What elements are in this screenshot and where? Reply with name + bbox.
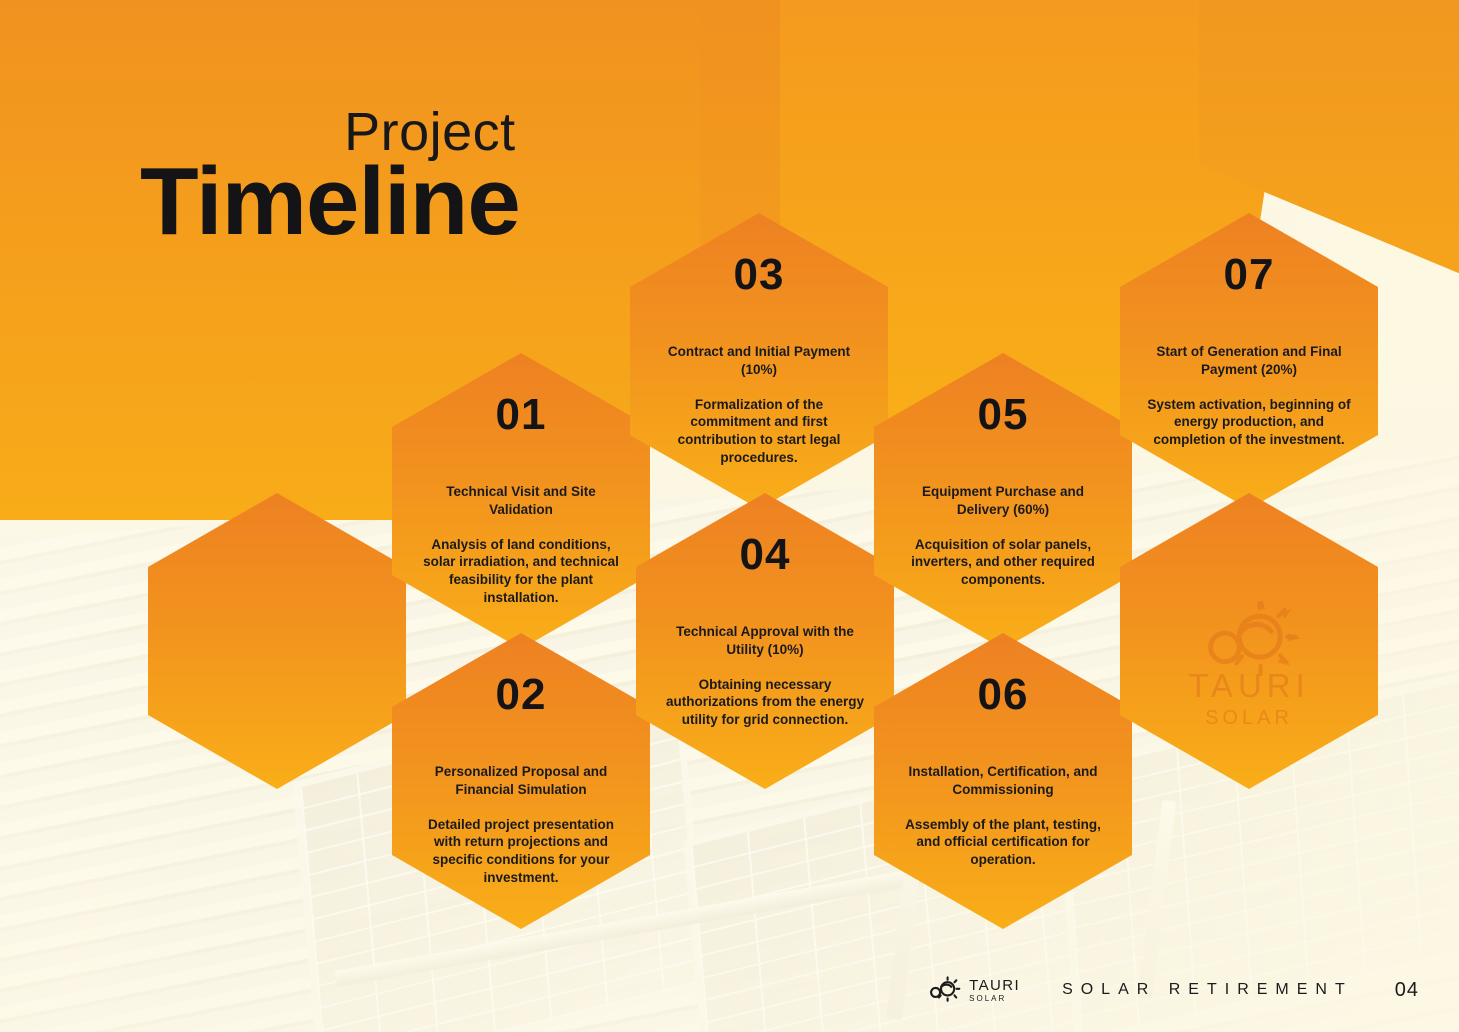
step-number: 01 (496, 393, 547, 437)
step-number: 03 (734, 253, 785, 297)
step-title: Start of Generation and Final Payment (2… (1144, 343, 1354, 379)
footer-tagline: SOLAR RETIREMENT (1062, 981, 1353, 999)
step-description: Formalization of the commitment and firs… (654, 396, 864, 467)
timeline-step-02[interactable]: 02 Personalized Proposal and Financial S… (392, 633, 650, 929)
timeline-step-07[interactable]: 07 Start of Generation and Final Payment… (1120, 213, 1378, 509)
footer-brand: TAURI (969, 978, 1020, 993)
step-description: Obtaining necessary authorizations from … (660, 676, 870, 729)
page-title-main: Timeline (140, 153, 520, 251)
step-description: Assembly of the plant, testing, and offi… (898, 816, 1108, 869)
watermark-sub: SOLAR (1205, 708, 1293, 728)
footer-brand-sub: SOLAR (969, 995, 1020, 1003)
step-number: 06 (978, 673, 1029, 717)
step-title: Personalized Proposal and Financial Simu… (416, 763, 626, 799)
page-footer: TAURI SOLAR SOLAR RETIREMENT 04 (926, 976, 1419, 1004)
step-title: Technical Visit and Site Validation (416, 483, 626, 519)
timeline-step-04[interactable]: 04 Technical Approval with the Utility (… (636, 493, 894, 789)
step-description: Acquisition of solar panels, inverters, … (898, 536, 1108, 589)
watermark-brand: TAURI (1188, 669, 1310, 702)
step-description: Analysis of land conditions, solar irrad… (416, 536, 626, 607)
step-title: Installation, Certification, and Commiss… (898, 763, 1108, 799)
watermark-logo: TAURI SOLAR (1188, 601, 1310, 728)
step-number: 04 (740, 533, 791, 577)
step-title: Technical Approval with the Utility (10%… (660, 623, 870, 659)
step-description: Detailed project presentation with retur… (416, 816, 626, 887)
timeline-step-06[interactable]: 06 Installation, Certification, and Comm… (874, 633, 1132, 929)
step-number: 07 (1224, 253, 1275, 297)
step-title: Equipment Purchase and Delivery (60%) (898, 483, 1108, 519)
footer-logo-text: TAURI SOLAR (969, 978, 1020, 1003)
timeline-step-01[interactable]: 01 Technical Visit and Site Validation A… (392, 353, 650, 649)
footer-page-number: 04 (1395, 979, 1419, 1002)
sun-infinity-icon (926, 976, 962, 1004)
page-title: Project Timeline (140, 105, 520, 251)
step-title: Contract and Initial Payment (10%) (654, 343, 864, 379)
timeline-step-03[interactable]: 03 Contract and Initial Payment (10%) Fo… (630, 213, 888, 509)
hexagon-brand-watermark: TAURI SOLAR (1120, 493, 1378, 789)
step-description: System activation, beginning of energy p… (1144, 396, 1354, 449)
timeline-step-05[interactable]: 05 Equipment Purchase and Delivery (60%)… (874, 353, 1132, 649)
step-number: 02 (496, 673, 547, 717)
hexagon-decorative-blank (148, 493, 406, 789)
step-number: 05 (978, 393, 1029, 437)
footer-logo: TAURI SOLAR (926, 976, 1020, 1004)
